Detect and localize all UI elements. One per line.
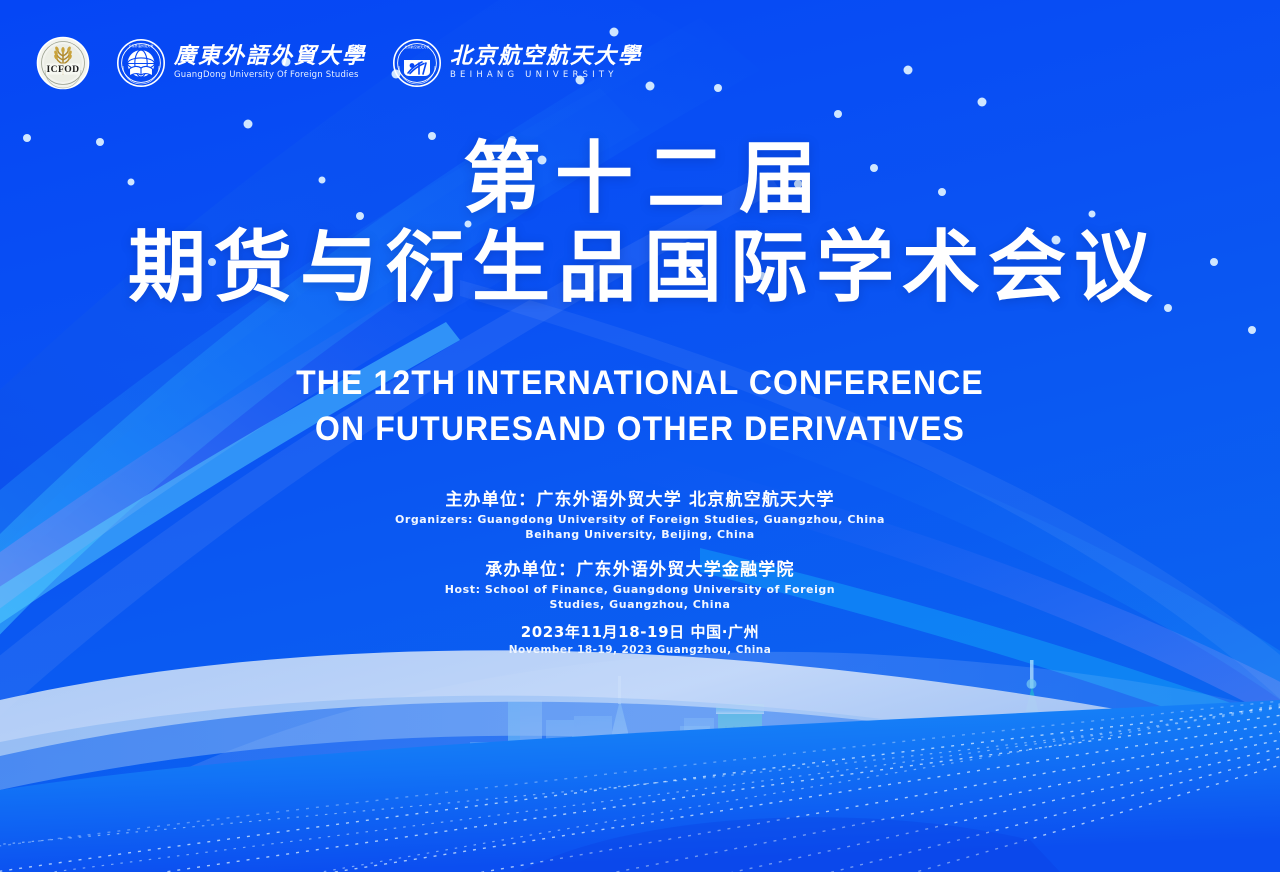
- event-date-cn: 2023年11月18-19日 中国·广州: [0, 622, 1280, 643]
- host-label-cn: 承办单位：广东外语外贸大学金融学院: [0, 558, 1280, 582]
- gdufs-emblem-icon: 广东外语外贸大学: [116, 38, 166, 88]
- logo-gdufs: 广东外语外贸大学 廣東外語外貿大學 GuangDong University O…: [116, 38, 366, 88]
- svg-text:广东外语外贸大学: 广东外语外贸大学: [129, 43, 154, 48]
- title-english-line2: ON FUTURESAND OTHER DERIVATIVES: [38, 406, 1241, 452]
- organizers-line-2: Beihang University, Beijing, China: [0, 527, 1280, 542]
- beihang-name-en: BEIHANG UNIVERSITY: [450, 71, 642, 80]
- host-line-1: Host: School of Finance, Guangdong Unive…: [0, 582, 1280, 597]
- conference-poster: ICFOD: [0, 0, 1280, 872]
- page-title: 第十二届 期货与衍生品国际学术会议: [0, 136, 1280, 314]
- logo-icfod: ICFOD: [36, 36, 90, 90]
- icfod-seal-label: ICFOD: [47, 64, 80, 75]
- organizer-spacer: [0, 542, 1280, 558]
- organizers-line-1: Organizers: Guangdong University of Fore…: [0, 512, 1280, 527]
- beihang-emblem-icon: 北京航空航天大学: [392, 38, 442, 88]
- logo-bar: ICFOD: [36, 36, 642, 90]
- title-chinese-line1: 第十二届: [0, 136, 1280, 222]
- host-line-2: Studies, Guangzhou, China: [0, 597, 1280, 612]
- event-date-block: 2023年11月18-19日 中国·广州 November 18-19, 202…: [0, 622, 1280, 658]
- subtitle: THE 12TH INTERNATIONAL CONFERENCE ON FUT…: [0, 360, 1280, 452]
- title-english-line1: THE 12TH INTERNATIONAL CONFERENCE: [38, 360, 1241, 406]
- gdufs-name-en: GuangDong University Of Foreign Studies: [174, 71, 366, 80]
- organizers-label-cn: 主办单位：广东外语外贸大学 北京航空航天大学: [0, 488, 1280, 512]
- gdufs-name-cn: 廣東外語外貿大學: [174, 46, 366, 68]
- logo-beihang: 北京航空航天大学 北京航空航天大學 BEIHANG UNIVERSITY: [392, 38, 642, 88]
- organizer-block: 主办单位：广东外语外贸大学 北京航空航天大学 Organizers: Guang…: [0, 488, 1280, 612]
- icfod-seal-icon: ICFOD: [36, 36, 90, 90]
- event-date-en: November 18-19, 2023 Guangzhou, China: [0, 643, 1280, 658]
- title-chinese-line2: 期货与衍生品国际学术会议: [0, 222, 1280, 314]
- svg-text:北京航空航天大学: 北京航空航天大学: [405, 44, 430, 49]
- beihang-name-cn: 北京航空航天大學: [450, 46, 642, 68]
